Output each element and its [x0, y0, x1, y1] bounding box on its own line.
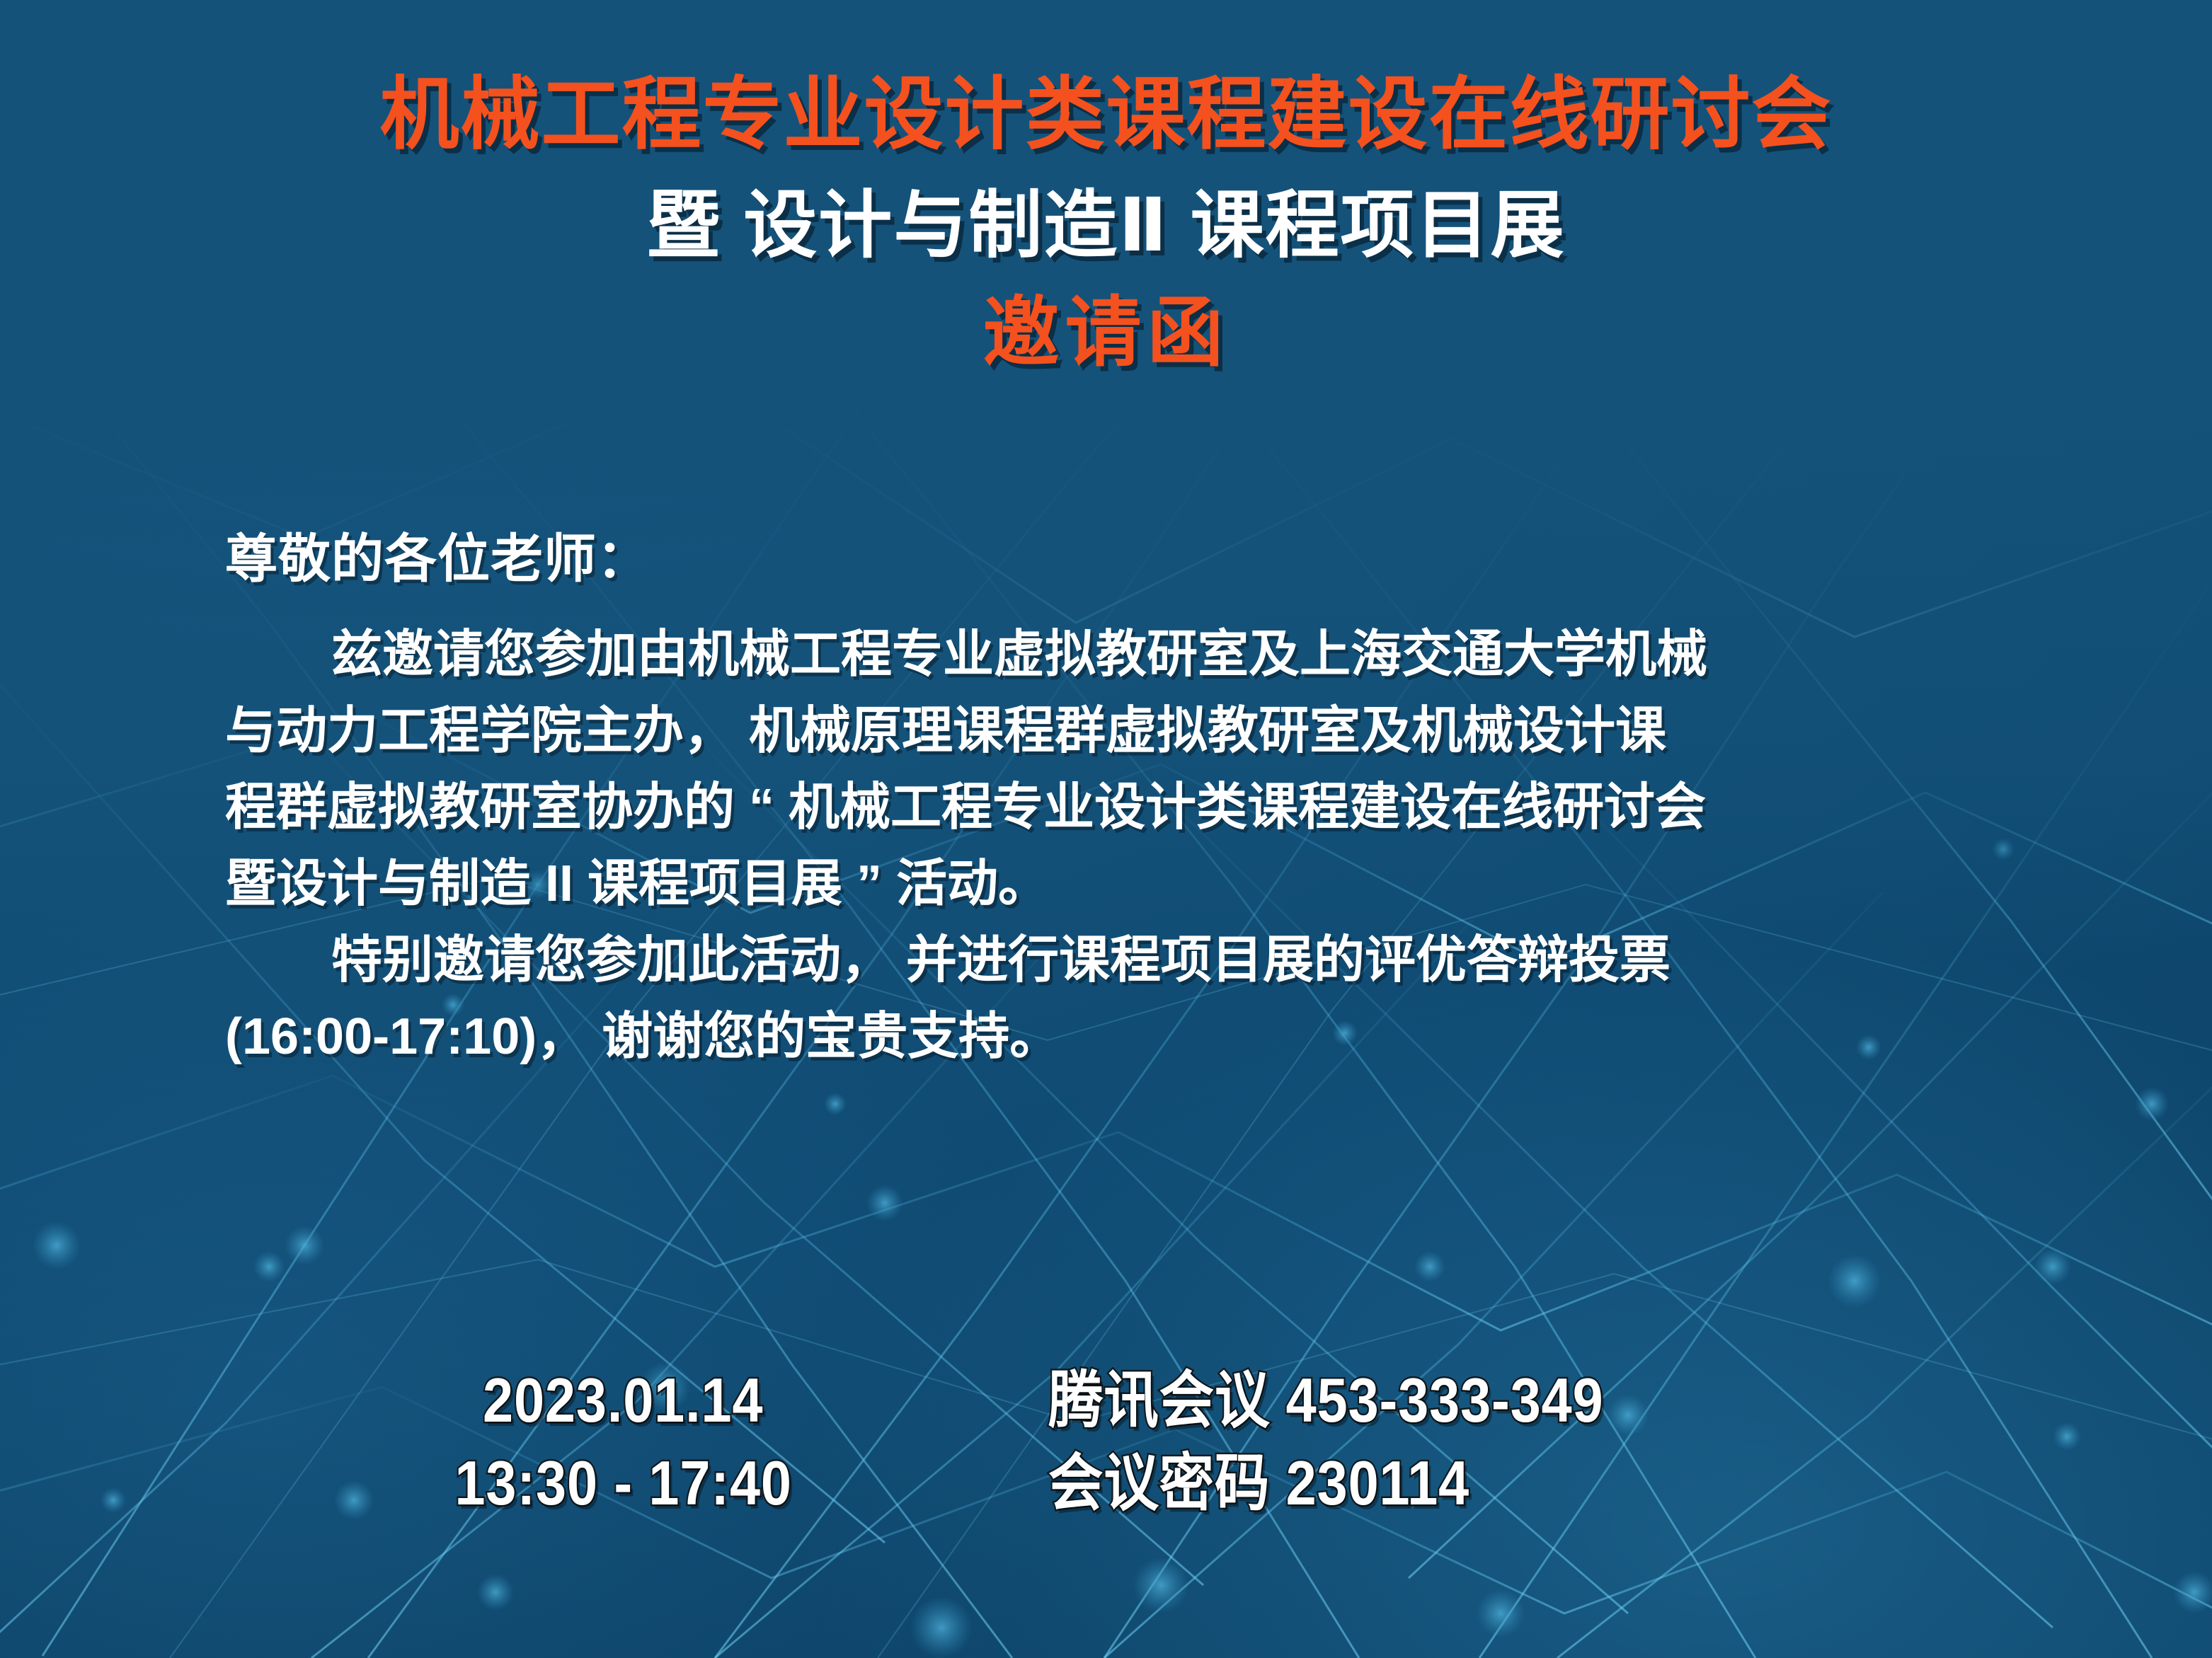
- invitation-body: 尊敬的各位老师： 兹邀请您参加由机械工程专业虚拟教研室及上海交通大学机械 与动力…: [225, 517, 2016, 1075]
- footer-datetime-column: 2023.01.14 13:30 - 17:40: [432, 1362, 815, 1521]
- title-block: 机械工程专业设计类课程建设在线研讨会 暨 设计与制造Ⅱ 课程项目展 邀请函: [0, 68, 2212, 379]
- invitation-poster: 机械工程专业设计类课程建设在线研讨会 暨 设计与制造Ⅱ 课程项目展 邀请函 尊敬…: [0, 0, 2212, 1658]
- meeting-id: 腾讯会议 453-333-349: [1048, 1362, 1604, 1438]
- salutation: 尊敬的各位老师：: [225, 517, 2016, 592]
- paragraph1-line-4: 暨设计与制造 II 课程项目展 ” 活动。: [225, 846, 2016, 922]
- page-title-invitation: 邀请函: [0, 287, 2212, 379]
- meeting-password: 会议密码 230114: [1048, 1445, 1469, 1521]
- paragraph2-line-2: (16:00-17:10)， 谢谢您的宝贵支持。: [225, 998, 2016, 1075]
- paragraph1-line-3: 程群虚拟教研室协办的 “ 机械工程专业设计类课程建设在线研讨会: [225, 769, 2016, 846]
- event-date: 2023.01.14: [483, 1362, 763, 1438]
- page-title-subtitle: 暨 设计与制造Ⅱ 课程项目展: [0, 181, 2212, 271]
- page-title-main: 机械工程专业设计类课程建设在线研讨会: [0, 68, 2212, 161]
- paragraph2-line-1: 特别邀请您参加此活动， 并进行课程项目展的评优答辩投票: [225, 922, 2016, 998]
- paragraph1-line-1: 兹邀请您参加由机械工程专业虚拟教研室及上海交通大学机械: [225, 616, 2016, 693]
- paragraph1-line-2: 与动力工程学院主办， 机械原理课程群虚拟教研室及机械设计课: [225, 693, 2016, 769]
- footer-details: 2023.01.14 13:30 - 17:40 腾讯会议 453-333-34…: [0, 1362, 2212, 1521]
- footer-meeting-column: 腾讯会议 453-333-349 会议密码 230114: [1048, 1362, 1680, 1521]
- event-time-range: 13:30 - 17:40: [454, 1445, 791, 1521]
